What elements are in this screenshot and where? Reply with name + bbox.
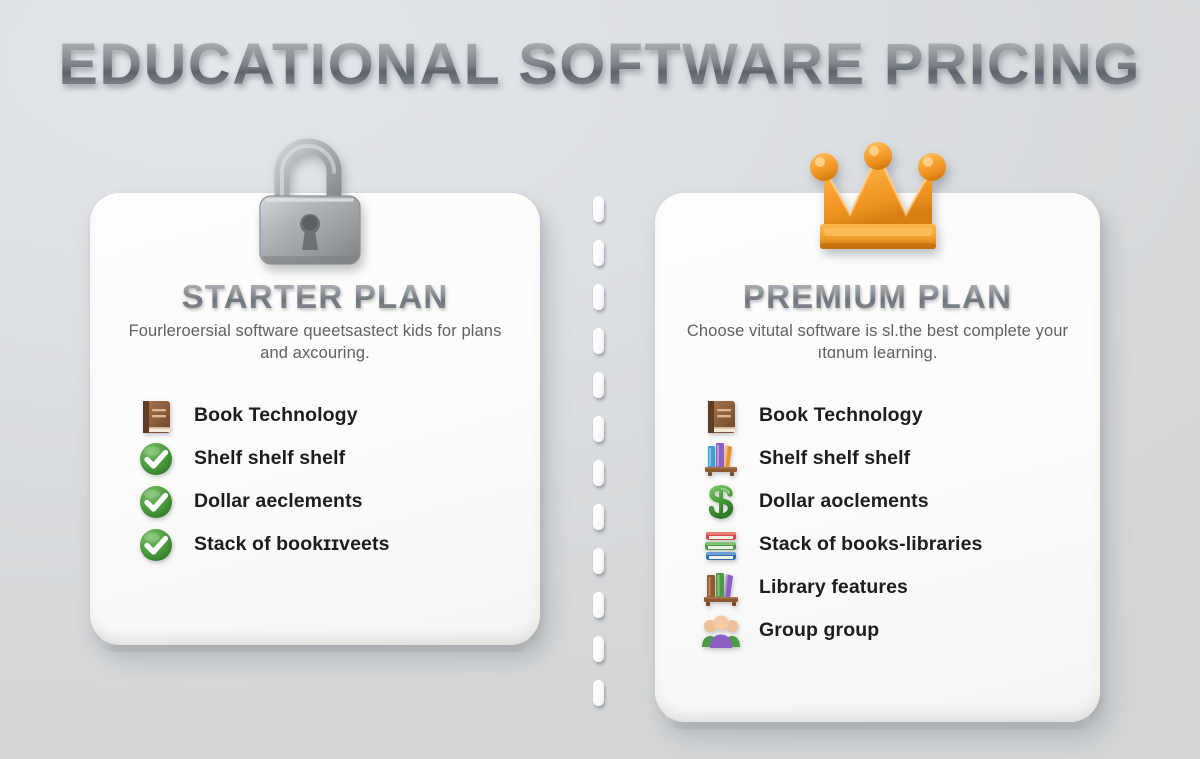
feature-label: Library features (759, 576, 908, 599)
divider-pill (593, 592, 604, 618)
premium-plan-subtitle: Choose vitutal software is sl.the best c… (681, 321, 1074, 365)
starter-plan-title: STARTER PLAN (90, 280, 540, 313)
list-item: Dollar aeclements (136, 480, 520, 523)
page-title-wrapper: EDUCATIONAL SOFTWARE PRICING (0, 36, 1200, 94)
green-check-icon (136, 482, 176, 522)
divider-pill (593, 504, 604, 530)
page-title: EDUCATIONAL SOFTWARE PRICING (59, 36, 1142, 94)
divider-pill (593, 460, 604, 486)
divider-pill (593, 680, 604, 706)
premium-plan-title: PREMIUM PLAN (655, 280, 1100, 313)
open-padlock-icon (248, 134, 372, 270)
brown-book-icon (136, 396, 176, 436)
feature-label: Stack of bookɪɪveets (194, 533, 390, 556)
feature-label: Group group (759, 619, 879, 642)
feature-label: Book Technology (194, 404, 358, 427)
feature-label: Dollar aoclements (759, 490, 929, 513)
group-of-people-icon (701, 611, 741, 651)
feature-label: Book Technology (759, 404, 923, 427)
list-item: Shelf shelf shelf (701, 437, 1080, 480)
list-item: Stack of books-libraries (701, 523, 1080, 566)
list-item: Shelf shelf shelf (136, 437, 520, 480)
list-item: Library features (701, 566, 1080, 609)
dollar-sign-icon (701, 482, 741, 522)
divider-pill (593, 240, 604, 266)
list-item: Book Technology (136, 394, 520, 437)
divider-pill (593, 284, 604, 310)
stack-of-books-icon (701, 525, 741, 565)
library-shelf-icon (701, 568, 741, 608)
divider-pill (593, 196, 604, 222)
green-check-icon (136, 525, 176, 565)
list-item: Dollar aoclements (701, 480, 1080, 523)
brown-book-icon (701, 396, 741, 436)
divider-pill (593, 548, 604, 574)
feature-label: Dollar aeclements (194, 490, 363, 513)
divider-pill (593, 416, 604, 442)
feature-label: Shelf shelf shelf (194, 447, 345, 470)
vertical-dashed-pill-divider (593, 196, 607, 732)
crown-icon (806, 140, 950, 255)
list-item: Book Technology (701, 394, 1080, 437)
bookshelf-icon (701, 439, 741, 479)
divider-pill (593, 636, 604, 662)
starter-feature-list: Book Technology Shelf shelf shelf (136, 394, 520, 566)
divider-pill (593, 372, 604, 398)
list-item: Stack of bookɪɪveets (136, 523, 520, 566)
feature-label: Shelf shelf shelf (759, 447, 910, 470)
starter-plan-subtitle: Fourleroersial software queetsastect kid… (116, 321, 514, 365)
premium-plan-card[interactable]: PREMIUM PLAN Choose vitutal software is … (655, 193, 1100, 722)
divider-pill (593, 328, 604, 354)
feature-label: Stack of books-libraries (759, 533, 982, 556)
list-item: Group group (701, 609, 1080, 652)
green-check-icon (136, 439, 176, 479)
premium-feature-list: Book Technology Shelf shelf shelf (701, 394, 1080, 652)
